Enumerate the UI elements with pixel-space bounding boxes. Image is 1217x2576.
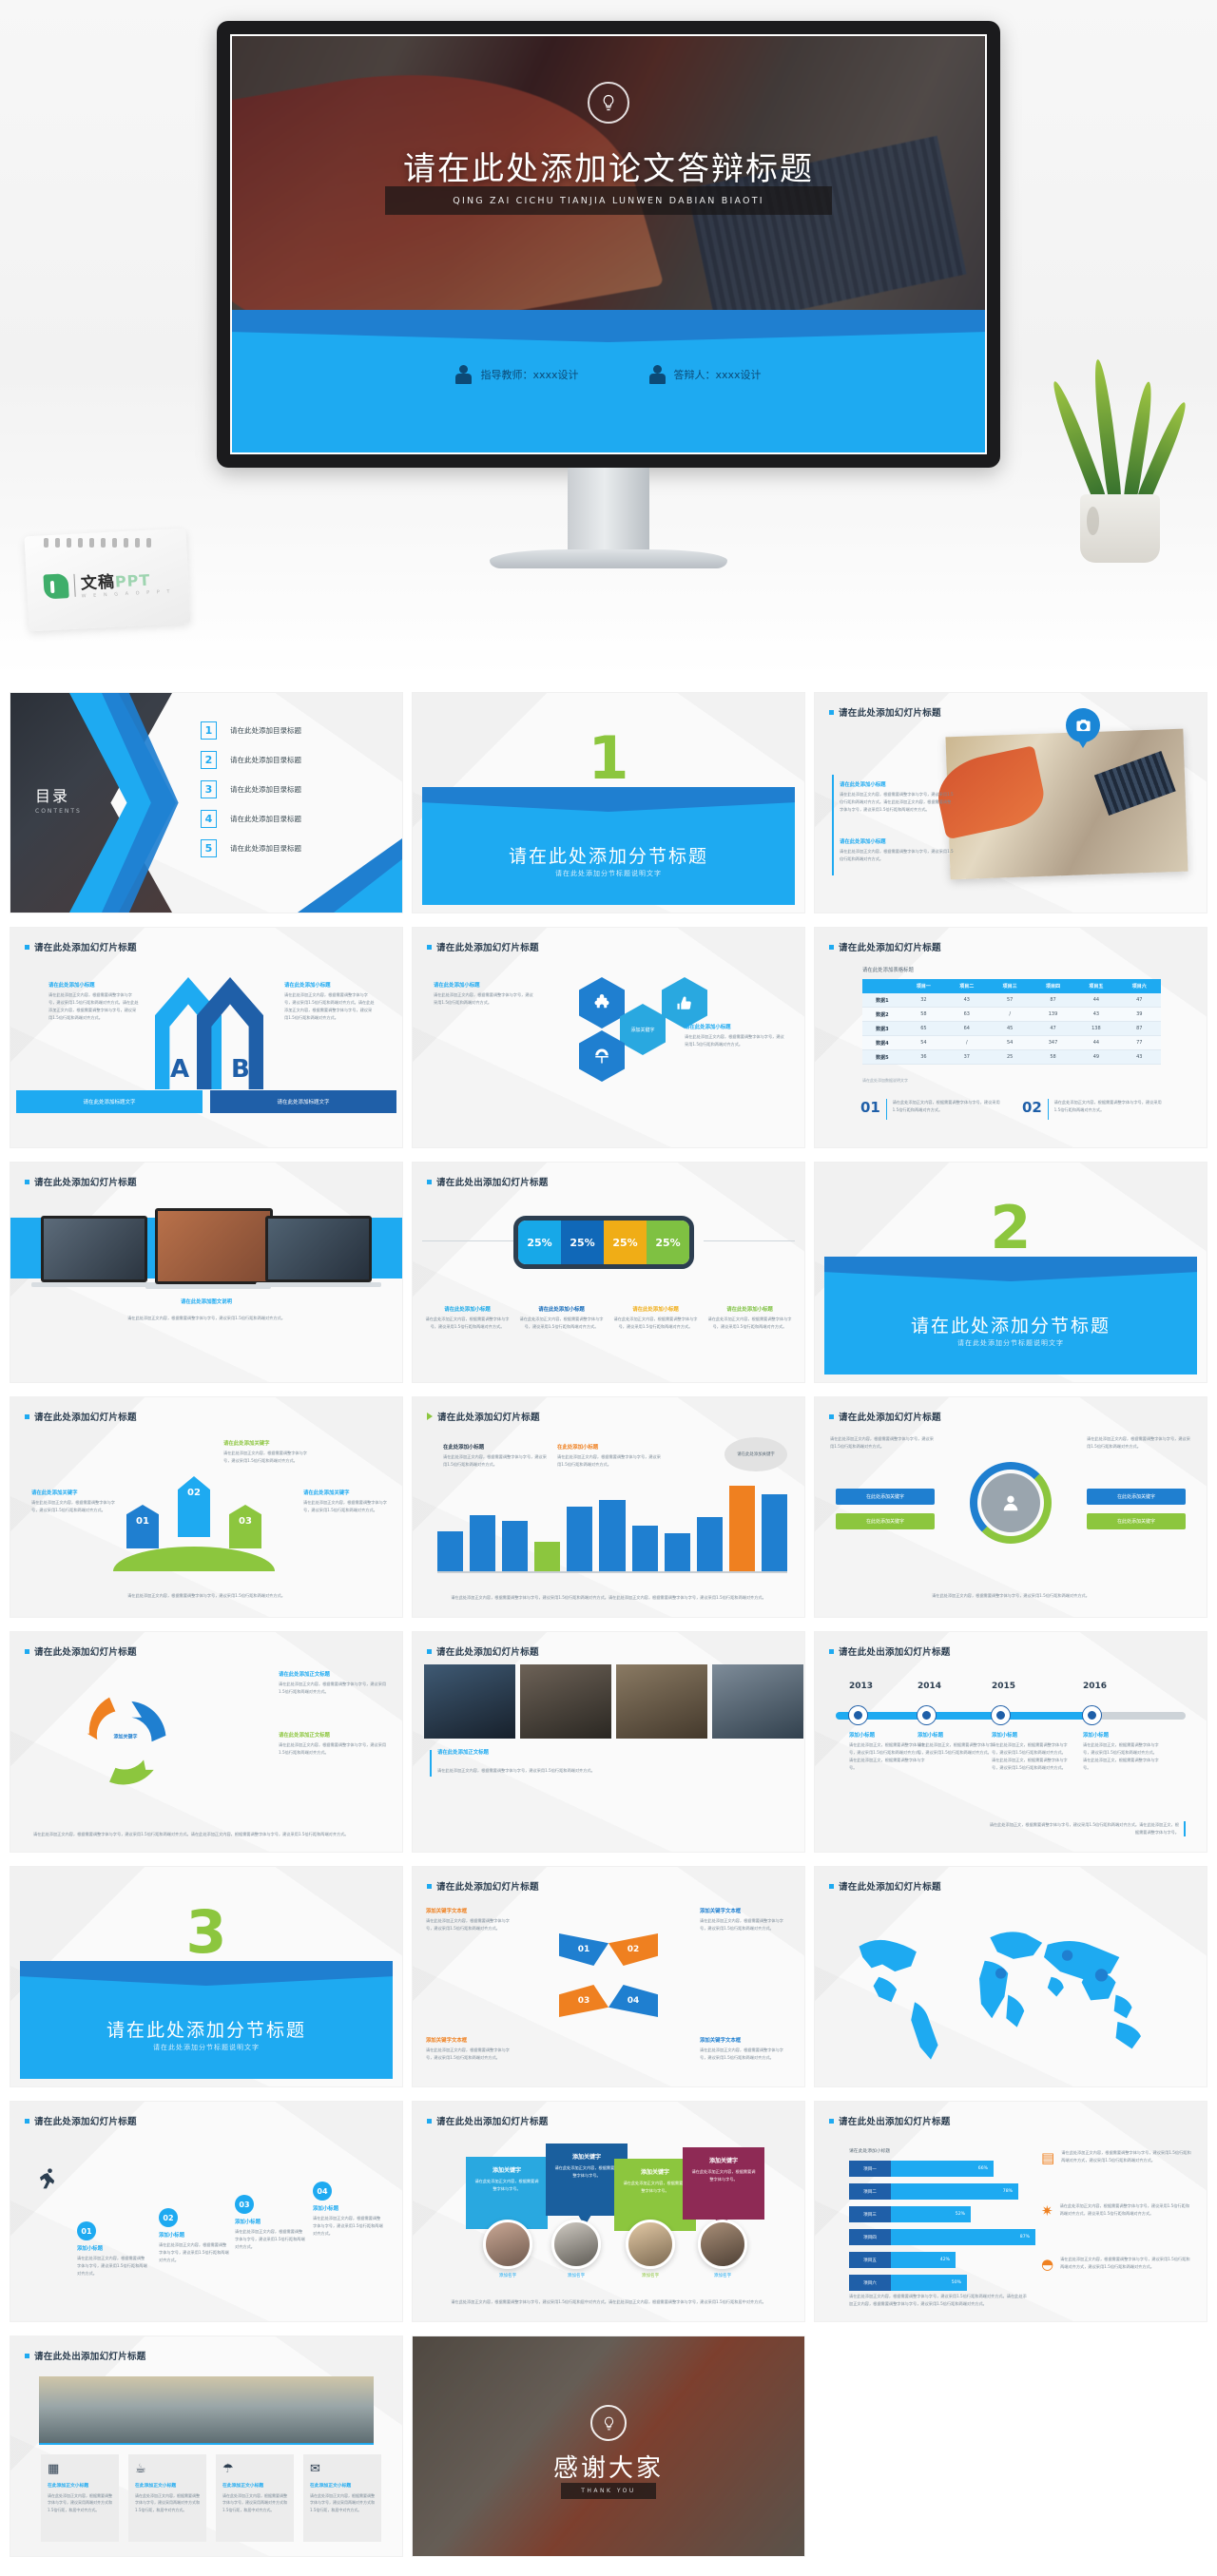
td: 347 [1032,1036,1074,1050]
card-text: 请在此处添加正文内容，根据需要调整字体与字号，建议采用两端对齐方式和1.5倍行距… [48,2492,112,2513]
timeline-dot[interactable] [918,1706,936,1724]
table-header-row: 项目一 项目二 项目三 项目四 项目五 项目六 [862,979,1161,993]
th [862,979,902,993]
slide-title-text: 请在此处添加幻灯片标题 [839,1410,941,1423]
square-bullet-icon [427,2119,432,2124]
slide-bar-chart[interactable]: 请在此处添加幻灯片标题 在此处添加小标题 请在此处添加正文内容，根据需要调整字体… [412,1396,805,1618]
band-left: 请在此处添加标题文字 [16,1090,203,1113]
side-text: 请在此处添加正文内容，根据需要调整字体与字号，建议采用1.5倍行距和两端对齐方式… [1060,2256,1193,2271]
hbar-value: 52% [891,2206,971,2222]
sub-heading: 请在此处添加图文说明 [10,1298,402,1305]
text-block: 添加关键字文本框 请在此处添加正文内容，根据需要调整字体与字号，建议采用1.5倍… [426,1907,517,1932]
td: 58 [1032,1050,1074,1065]
timeline-year: 2015 [992,1682,1015,1691]
avatar [626,2220,675,2269]
sub-heading: 添加小标题 [77,2244,147,2252]
avatar [698,2220,747,2269]
body-text: 请在此处添加正文内容，根据需要调整字体与字号，建议采用1.5倍行距和两端对齐方式… [840,791,954,814]
advisor-credit: 指导教师：xxxx设计 [455,365,578,384]
sub-heading: 请在此处添加关键字 [223,1439,311,1447]
blade-04: 04 [608,1985,658,2017]
toc-item-label: 请在此处添加目录标题 [230,843,301,854]
note-01: 01 请在此处添加正文内容，根据需要调整字体与字号，建议采用1.5倍行距和两端对… [860,1099,1003,1120]
slide-thank-you[interactable]: 感谢大家 THANK YOU [412,2336,805,2557]
section-number: 1 [588,729,628,788]
sub-heading: 请在此处添加正文标题 [437,1748,489,1756]
note-number: 01 [860,1099,880,1116]
sub-heading: 请在此处添加小标题 [284,981,376,989]
section-number: 3 [185,1903,226,1962]
square-bullet-icon [829,945,834,950]
slide-ab-compare[interactable]: 请在此处添加幻灯片标题 A B 请在此处添加小标题 请在此处添加正文内容，根据需… [10,927,403,1148]
hbar-label: 项目六 [849,2275,891,2291]
slide-title-text: 请在此处添加幻灯片标题 [839,940,941,953]
timeline-dot[interactable] [849,1706,867,1724]
timeline-year: 2014 [918,1682,941,1691]
card-head: 在此添加正文小标题 [222,2482,287,2489]
side-item: ▤ 请在此处添加正文内容，根据需要调整字体与字号，建议采用1.5倍行距和两端对齐… [1041,2149,1193,2166]
slide-title-text: 请在此处添加幻灯片标题 [436,1644,539,1658]
table-row: 数据1324357874447 [862,993,1161,1008]
sub-heading: 添加关键字文本框 [700,2036,791,2044]
slide-city-cards[interactable]: 请在此处出添加幻灯片标题 ▦ 在此添加正文小标题 请在此处添加正文内容，根据需要… [10,2336,403,2557]
book-fold-right [206,1961,393,1986]
document-icon: ▤ [1041,2149,1054,2166]
bar [437,1531,463,1571]
sub-heading: 添加小标题 [849,1731,925,1739]
body-text: 请在此处添加正文内容，根据需要调整字体与字号，建议采用1.5倍行距和两端对齐方式… [437,1767,782,1775]
td: 77 [1118,1036,1161,1050]
square-bullet-icon [829,710,834,715]
book-fold-right [608,787,795,812]
slide-table[interactable]: 请在此处添加幻灯片标题 请在此处添加表格标题 项目一 项目二 项目三 项目四 项… [814,927,1207,1148]
body-text: 请在此处添加正文内容，根据需要调整字体与字号，建议采用1.5倍行距和两端对齐方式… [303,1499,391,1514]
text-block: 请在此处添加关键字 请在此处添加正文内容，根据需要调整字体与字号，建议采用1.5… [31,1489,119,1514]
title-slide[interactable]: 请在此处添加论文答辩标题 QING ZAI CICHU TIANJIA LUNW… [230,34,987,454]
toc-heading: 目录 CONTENTS [35,783,82,815]
battery-segment: 25% [604,1221,647,1264]
body-text: 请在此处添加正文内容，根据需要调整字体与字号，建议采用1.5倍行距和两端对齐方式… [700,2047,791,2062]
body-text: 请在此处添加正文内容，根据需要调整字体与字号，建议采用1.5倍行距和两端对齐方式… [426,2047,517,2062]
page-title: 请在此处添加幻灯片标题 [829,705,941,719]
td: 47 [1032,1022,1074,1036]
slide-title-text: 请在此处添加幻灯片标题 [839,705,941,719]
slide-pinwheel[interactable]: 请在此处添加幻灯片标题 01 02 03 04 添加关键字文本框 请在此处添加正… [412,1866,805,2087]
square-bullet-icon [427,945,432,950]
book-fold-right [1011,1257,1197,1281]
bubble-head: 添加关键字 [473,2165,540,2174]
square-bullet-icon [829,2119,834,2124]
slide-thumbnail-grid: 目录 CONTENTS 1 请在此处添加目录标题 2 请在此处添加目录标题 3 … [0,677,1217,2576]
brand-notepad: 文稿PPT W E N G A O P P T [27,532,188,627]
footer-text: 请在此处添加正文内容，根据需要调整字体与字号，建议采用1.5倍行距和居中对齐方式… [451,2298,766,2306]
recycle-center-label: 添加关键字 [113,1734,137,1741]
lightbulb-icon [588,82,629,124]
slide-title-text: 请在此处添加幻灯片标题 [34,1410,137,1423]
city-skyline-image [39,2376,374,2445]
accent-bar [832,836,834,875]
hbar-row: 项目六 50% [849,2275,967,2291]
td: 54 [902,1036,945,1050]
sub-heading: 请在此处添加小标题 [685,1023,787,1030]
list-item[interactable]: 5 请在此处添加目录标题 [201,839,301,857]
presenter-label: 答辩人：xxxx设计 [674,367,762,382]
td: 138 [1074,1022,1117,1036]
letter-a: A [170,1055,189,1084]
page-title: 请在此处添加幻灯片标题 [427,1879,539,1893]
potted-plant [1063,363,1177,563]
sub-heading: 添加关键字文本框 [426,1907,517,1914]
list-item[interactable]: 2 请在此处添加目录标题 [201,751,301,769]
step-number-04: 04 [313,2182,332,2201]
slide-title-text: 请在此处添加幻灯片标题 [34,1175,137,1188]
slide-hbar-chart[interactable]: 请在此处出添加幻灯片标题 请在此处添加小标题 项目一 66% 项目二 78% 项… [814,2101,1207,2322]
device-screen [265,1216,372,1282]
td: 43 [1074,1008,1117,1022]
hero-blue-panel: 指导教师：xxxx设计 答辩人：xxxx设计 [232,310,985,452]
list-item[interactable]: 1 请在此处添加目录标题 [201,721,301,740]
sub-heading: 请在此处添加正文标题 [279,1731,389,1739]
slide-section-3[interactable]: 3 请在此处添加分节标题 请在此处添加分节标题说明文字 [10,1866,403,2087]
td: 57 [988,993,1031,1008]
hbar-value: 50% [891,2275,967,2291]
legend-head: 请在此处添加小标题 [706,1305,793,1313]
toc-number: 1 [201,721,217,740]
lightbulb-icon [590,2405,627,2441]
hero-mockup: 请在此处添加论文答辩标题 QING ZAI CICHU TIANJIA LUNW… [0,0,1217,677]
square-bullet-icon [427,1649,432,1654]
text-block-left: 请在此处添加小标题 请在此处添加正文内容，根据需要调整字体与字号，建议采用1.5… [48,981,140,1022]
page-title: 请在此处出添加幻灯片标题 [829,1644,951,1658]
teacher-icon [455,365,472,384]
chart-axis [437,1571,787,1573]
text-block: 添加关键字文本框 请在此处添加正文内容，根据需要调整字体与字号，建议采用1.5倍… [700,2036,791,2062]
slide-section-1[interactable]: 1 请在此处添加分节标题 请在此处添加分节标题说明文字 [412,692,805,913]
chart-footnote: 请在此处添加正文内容，根据需要调整字体与字号，建议采用1.5倍行距和两端对齐方式… [447,1594,770,1602]
square-bullet-icon [829,1649,834,1654]
slide-gallery[interactable]: 请在此处添加幻灯片标题 请在此处添加正文标题 请在此处添加正文内容，根据需要调整… [412,1631,805,1853]
square-bullet-icon [25,945,29,950]
slide-steps[interactable]: 请在此处添加幻灯片标题 01 02 03 请在此处添加关键字 请在此处添加正文内… [10,1396,403,1618]
step-text-01: 添加小标题 请在此处添加正文内容，根据需要调整字体与字号，建议采用1.5倍行距和… [77,2244,147,2278]
td: 44 [1074,1036,1117,1050]
data-table[interactable]: 项目一 项目二 项目三 项目四 项目五 项目六 数据1324357874447 … [862,979,1161,1065]
body-text: 请在此处添加正文内容，根据需要调整字体与字号，建议采用1.5倍行距和两端对齐方式… [830,1435,935,1451]
td: / [945,1036,988,1050]
gallery-image[interactable] [616,1664,707,1739]
page-title: 请在此处添加幻灯片标题 [427,1644,539,1658]
table-footnote: 请在此处添加数据说明文字 [862,1078,908,1084]
bar [632,1526,658,1571]
td: 数据3 [862,1022,902,1036]
pinwheel-graphic: 01 02 03 04 [553,1920,664,2030]
section-subtitle: 请在此处添加分节标题说明文字 [422,869,795,878]
page-title: 请在此处出添加幻灯片标题 [427,1175,549,1188]
table-row: 数据5363725584943 [862,1050,1161,1065]
td: 37 [945,1050,988,1065]
td: 32 [902,993,945,1008]
sub-heading: 请在此处添加小标题 [434,981,536,989]
avatar-name: 添加名字 [551,2273,601,2278]
footer-block: 请在此处添加正文内容，根据需要调整字体与字号，建议采用1.5倍行距和两端对齐方式… [33,1831,379,1838]
hbar-label: 项目四 [849,2229,891,2245]
presentation-preview-page: 请在此处添加论文答辩标题 QING ZAI CICHU TIANJIA LUNW… [0,0,1217,2576]
sub-heading: 添加小标题 [992,1731,1068,1739]
th: 项目三 [988,979,1031,993]
toc-item-label: 请在此处添加目录标题 [230,784,301,795]
note-number: 02 [1022,1099,1042,1116]
battery-segment: 25% [561,1221,604,1264]
body-text: 请在此处添加正文内容，根据需要调整字体与字号，建议采用1.5倍行距和两端对齐方式… [279,1681,389,1696]
td: 数据5 [862,1050,902,1065]
legend-head: 请在此处添加小标题 [424,1305,511,1313]
chart-footnote: 请在此处添加正文内容，根据需要调整字体与字号，建议采用1.5倍行距和两端对齐方式… [849,2293,1030,2308]
th: 项目一 [902,979,945,993]
body-text: 请在此处添加正文内容，根据需要调整字体与字号，建议采用1.5倍行距和两端对齐方式… [313,2215,383,2238]
text-block: 请在此处添加正文标题 请在此处添加正文内容，根据需要调整字体与字号，建议采用1.… [279,1670,389,1696]
square-bullet-icon [25,1180,29,1184]
body-text: 请在此处添加正文内容，根据需要调整字体与字号，建议采用1.5倍行距和两端对齐方式… [284,991,376,1022]
timeline-dot[interactable] [992,1706,1010,1724]
page-title: 请在此处添加幻灯片标题 [427,940,539,953]
hero-title: 请在此处添加论文答辩标题 [232,143,985,189]
book-fold-left [422,787,608,812]
legend-head: 请在此处添加小标题 [612,1305,699,1313]
avatar [551,2220,601,2269]
text-block-right: 请在此处添加小标题 请在此处添加正文内容，根据需要调整字体与字号，建议采用1.5… [685,1023,787,1048]
td: 63 [945,1008,988,1022]
slide-section-2[interactable]: 2 请在此处添加分节标题 请在此处添加分节标题说明文字 [814,1162,1207,1383]
slide-timeline[interactable]: 请在此处出添加幻灯片标题 2013 2014 2015 2016 添加小标题 请… [814,1631,1207,1853]
bar [762,1494,787,1571]
card-text: 请在此处添加正文内容，根据需要调整字体与字号，建议采用两端对齐方式和1.5倍行距… [135,2492,200,2513]
avatar-name: 添加名字 [626,2273,675,2278]
avatar-name: 添加名字 [483,2273,532,2278]
text-block: 请在此处添加关键字 请在此处添加正文内容，根据需要调整字体与字号，建议采用1.5… [223,1439,311,1465]
monitor-frame: 请在此处添加论文答辩标题 QING ZAI CICHU TIANJIA LUNW… [217,21,1000,468]
side-item: ✷ 请在此处添加正文内容，根据需要调整字体与字号，建议采用1.5倍行距和两端对齐… [1041,2202,1193,2220]
td: 139 [1032,1008,1074,1022]
td: 58 [902,1008,945,1022]
slide-team[interactable]: 请在此处出添加幻灯片标题 添加关键字 请在此处添加正文内容，根据需要调整字体与字… [412,2101,805,2322]
th: 项目二 [945,979,988,993]
bubble-head: 添加关键字 [553,2152,620,2161]
page-title: 请在此处添加幻灯片标题 [427,1410,540,1423]
text-block: 添加关键字文本框 请在此处添加正文内容，根据需要调整字体与字号，建议采用1.5倍… [426,2036,517,2062]
body-text: 请在此处添加正文内容，根据需要调整字体与字号，建议采用1.5倍行距和两端对齐方式… [48,1315,364,1322]
td: 数据1 [862,993,902,1008]
toc-heading-cn: 目录 [35,783,82,806]
info-card[interactable]: ☂ 在此添加正文小标题 请在此处添加正文内容，根据需要调整字体与字号，建议采用两… [216,2454,294,2542]
td: 25 [988,1050,1031,1065]
toc-number: 3 [201,780,217,798]
advisor-label: 指导教师：xxxx设计 [480,367,578,382]
body-text: 请在此处添加正文内容，根据需要调整字体与字号，建议采用1.5倍行距和两端对齐方式… [840,848,954,863]
timeline-footer: 请在此处添加正文，根据需要调整字体与字号，建议采用1.5倍行距和两端对齐方式。请… [986,1821,1186,1836]
td: 39 [1118,1008,1161,1022]
timeline-item: 添加小标题 请在此处添加正文，根据需要调整字体与字号，建议采用1.5倍行距和两端… [992,1731,1068,1772]
accent-bar [832,775,834,837]
step-number-01: 01 [77,2221,96,2240]
caption-block: 请在此处添加正文标题 [437,1748,489,1759]
gallery-image[interactable] [520,1664,611,1739]
battery-legend: 请在此处添加小标题 请在此处添加正文内容，根据需要调整字体与字号，建议采用1.5… [424,1305,793,1331]
body-text: 请在此处添加正文内容，根据需要调整字体与字号，建议采用1.5倍行距和两端对齐方式… [279,1741,389,1757]
speech-bubble: 添加关键字 请在此处添加正文内容，根据需要调整字体与字号。 [683,2147,764,2220]
hbar-row: 项目二 78% [849,2183,1018,2200]
thankyou-bar: THANK YOU [561,2483,656,2499]
hbar-row: 项目五 42% [849,2252,956,2268]
hero-subtitle-bar: QING ZAI CICHU TIANJIA LUNWEN DABIAN BIA… [385,186,832,215]
bar-chart-plot [437,1467,787,1571]
legend-item: 请在此处添加小标题 请在此处添加正文内容，根据需要调整字体与字号，建议采用1.5… [612,1305,699,1331]
note-text: 请在此处添加正文内容，根据需要调整字体与字号，建议采用1.5倍行距和两端对齐方式… [893,1099,1003,1114]
runner-icon [33,2166,60,2193]
square-bullet-icon [829,1884,834,1889]
bar [534,1542,560,1571]
slide-circle-diagram[interactable]: 请在此处添加幻灯片标题 在此处添加关键字 在此处添加关键字 在此处添加关键字 在… [814,1396,1207,1618]
timeline-dot[interactable] [1083,1706,1101,1724]
brand-name-ppt: PPT [114,571,150,591]
ecg-line-right [704,1240,795,1241]
bubble-text: 请在此处添加正文内容，根据需要调整字体与字号。 [553,2164,620,2179]
hbar-row: 项目三 52% [849,2206,971,2222]
gallery-image[interactable] [424,1664,515,1739]
toc-number: 5 [201,839,217,857]
hero-subtitle: QING ZAI CICHU TIANJIA LUNWEN DABIAN BIA… [453,196,763,206]
bubble-text: 请在此处添加正文内容，根据需要调整字体与字号。 [473,2178,540,2192]
td: 数据4 [862,1036,902,1050]
body-text: 请在此处添加正文，根据需要调整字体与字号，建议采用1.5倍行距和两端对齐方式。请… [1083,1741,1159,1772]
thankyou-overlay [413,2336,804,2556]
text-block: 添加关键字文本框 请在此处添加正文内容，根据需要调整字体与字号，建议采用1.5倍… [700,1907,791,1932]
legend-item: 请在此处添加小标题 请在此处添加正文内容，根据需要调整字体与字号，建议采用1.5… [424,1305,511,1331]
legend-text: 请在此处添加正文内容，根据需要调整字体与字号，建议采用1.5倍行距和两端对齐方式… [518,1316,605,1331]
camera-icon [1066,708,1100,742]
hbar-value: 87% [891,2229,1035,2245]
hbar-value: 78% [891,2183,1018,2200]
body-text: 请在此处添加正文内容，根据需要调整字体与字号，建议采用1.5倍行距和两端对齐方式… [700,1917,791,1932]
card-head: 在此添加正文小标题 [310,2482,375,2489]
page-title: 请在此处添加幻灯片标题 [829,940,941,953]
gears-icon: ✷ [1041,2202,1053,2220]
section-title: 请在此处添加分节标题 [422,842,795,868]
hbar-value: 42% [891,2252,956,2268]
slide-battery[interactable]: 请在此处出添加幻灯片标题 25% 25% 25% 25% 请在此处添加小标题 请… [412,1162,805,1383]
table-row: 数据25863/1394339 [862,1008,1161,1022]
body-text: 请在此处添加正文内容，根据需要调整字体与字号，建议采用1.5倍行距和两端对齐方式… [434,991,536,1007]
td: 65 [902,1022,945,1036]
section-number: 2 [990,1199,1031,1258]
step-text-02: 添加小标题 请在此处添加正文内容，根据需要调整字体与字号，建议采用1.5倍行距和… [159,2231,229,2264]
square-bullet-icon [427,1180,432,1184]
td: 54 [988,1036,1031,1050]
bar [470,1515,495,1571]
page-title: 请在此处出添加幻灯片标题 [829,2114,951,2127]
timeline-item: 添加小标题 请在此处添加正文，根据需要调整字体与字号，建议采用1.5倍行距和两端… [1083,1731,1159,1772]
text-block: 请在此处添加关键字 请在此处添加正文内容，根据需要调整字体与字号，建议采用1.5… [303,1489,391,1514]
slide-photo[interactable]: 请在此处添加幻灯片标题 请在此处添加小标题 请在此处添加正文内容，根据需要调整字… [814,692,1207,913]
hbar-label: 项目五 [849,2252,891,2268]
slide-title-text: 请在此处出添加幻灯片标题 [839,1644,951,1658]
note-text: 请在此处添加正文内容，根据需要调整字体与字号，建议采用1.5倍行距和两端对齐方式… [1054,1099,1165,1114]
slide-title-text: 请在此处添加幻灯片标题 [34,1644,137,1658]
sub-heading: 请在此处添加正文标题 [279,1670,389,1678]
section-title: 请在此处添加分节标题 [824,1312,1197,1337]
page-title: 请在此处添加幻灯片标题 [25,2114,137,2127]
user-icon [981,1473,1040,1532]
gallery-image[interactable] [712,1664,803,1739]
blade-02: 02 [608,1933,658,1966]
list-item[interactable]: 3 请在此处添加目录标题 [201,780,301,798]
slide-process[interactable]: 请在此处添加幻灯片标题 01 02 03 04 添加小标题 请在此处添加正文内容… [10,2101,403,2322]
toc-item-label: 请在此处添加目录标题 [230,755,301,765]
hbar-row: 项目四 87% [849,2229,1035,2245]
section-subtitle: 请在此处添加分节标题说明文字 [824,1338,1197,1348]
arrow-b [197,977,263,1089]
slide-hexagons[interactable]: 请在此处添加幻灯片标题 添加关键字 请在此处添加小标题 请在此处添加正文内容，根… [412,927,805,1148]
battery-segment: 25% [518,1221,561,1264]
ecg-line-left [422,1240,513,1241]
info-card[interactable]: ▦ 在此添加正文小标题 请在此处添加正文内容，根据需要调整字体与字号，建议采用两… [41,2454,119,2542]
square-bullet-icon [25,1649,29,1654]
timeline-item: 添加小标题 请在此处添加正文，根据需要调整字体与字号，建议采用1.5倍行距和两端… [849,1731,925,1772]
hbar-label: 项目二 [849,2183,891,2200]
photo-thumbnail [945,729,1188,880]
card-head: 在此添加正文小标题 [135,2482,200,2489]
slide-background [413,1163,804,1382]
bar [567,1507,592,1571]
leaf-icon [43,573,68,599]
image-gallery [424,1664,803,1739]
info-card[interactable]: ☕ 在此添加正文小标题 请在此处添加正文内容，根据需要调整字体与字号，建议采用两… [128,2454,206,2542]
timeline-year: 2013 [849,1682,873,1691]
section-blue-panel: 请在此处添加分节标题 请在此处添加分节标题说明文字 [422,787,795,905]
square-bullet-icon [25,2119,29,2124]
td: 49 [1074,1050,1117,1065]
slide-title-text: 请在此处出添加幻灯片标题 [436,1175,549,1188]
sub-heading: 添加小标题 [313,2204,383,2212]
toc-heading-en: CONTENTS [35,808,82,815]
calendar-icon: ▦ [48,2462,112,2476]
section-title: 请在此处添加分节标题 [20,2016,393,2042]
monitor-stand [568,468,649,553]
list-item[interactable]: 4 请在此处添加目录标题 [201,810,301,828]
slide-title-text: 请在此处添加幻灯片标题 [437,1410,540,1423]
legend-item: 请在此处添加小标题 请在此处添加正文内容，根据需要调整字体与字号，建议采用1.5… [518,1305,605,1331]
brand-name-cn: 文稿 [80,573,115,594]
umbrella-icon: ☂ [222,2462,287,2476]
toc-item-label: 请在此处添加目录标题 [230,814,301,824]
square-bullet-icon [829,1414,834,1419]
sub-heading: 请在此处添加关键字 [303,1489,391,1496]
letter-b: B [231,1055,250,1084]
sub-heading: 添加小标题 [1083,1731,1159,1739]
slide-toc[interactable]: 目录 CONTENTS 1 请在此处添加目录标题 2 请在此处添加目录标题 3 … [10,692,403,913]
slide-devices[interactable]: 请在此处添加幻灯片标题 请在此处添加图文说明 请在此处添加正文内容，根据需要调整… [10,1162,403,1383]
td: 87 [1118,1022,1161,1036]
device-screen [155,1208,273,1284]
slide-title-text: 请在此处出添加幻灯片标题 [839,2114,951,2127]
page-title: 请在此处添加幻灯片标题 [25,1410,137,1423]
slide-recycle[interactable]: 请在此处添加幻灯片标题 添加关键字 请在此处添加正文标题 请在此处添加正文内容，… [10,1631,403,1853]
slide-title-text: 请在此处添加幻灯片标题 [436,1879,539,1893]
sub-heading: 添加关键字文本框 [426,2036,517,2044]
device-screen [41,1216,147,1282]
step-number-03: 03 [235,2195,254,2214]
info-card[interactable]: ✉ 在此添加正文小标题 请在此处添加正文内容，根据需要调整字体与字号，建议采用两… [303,2454,381,2542]
slide-world-map[interactable]: 请在此处添加幻灯片标题 [814,1866,1207,2087]
